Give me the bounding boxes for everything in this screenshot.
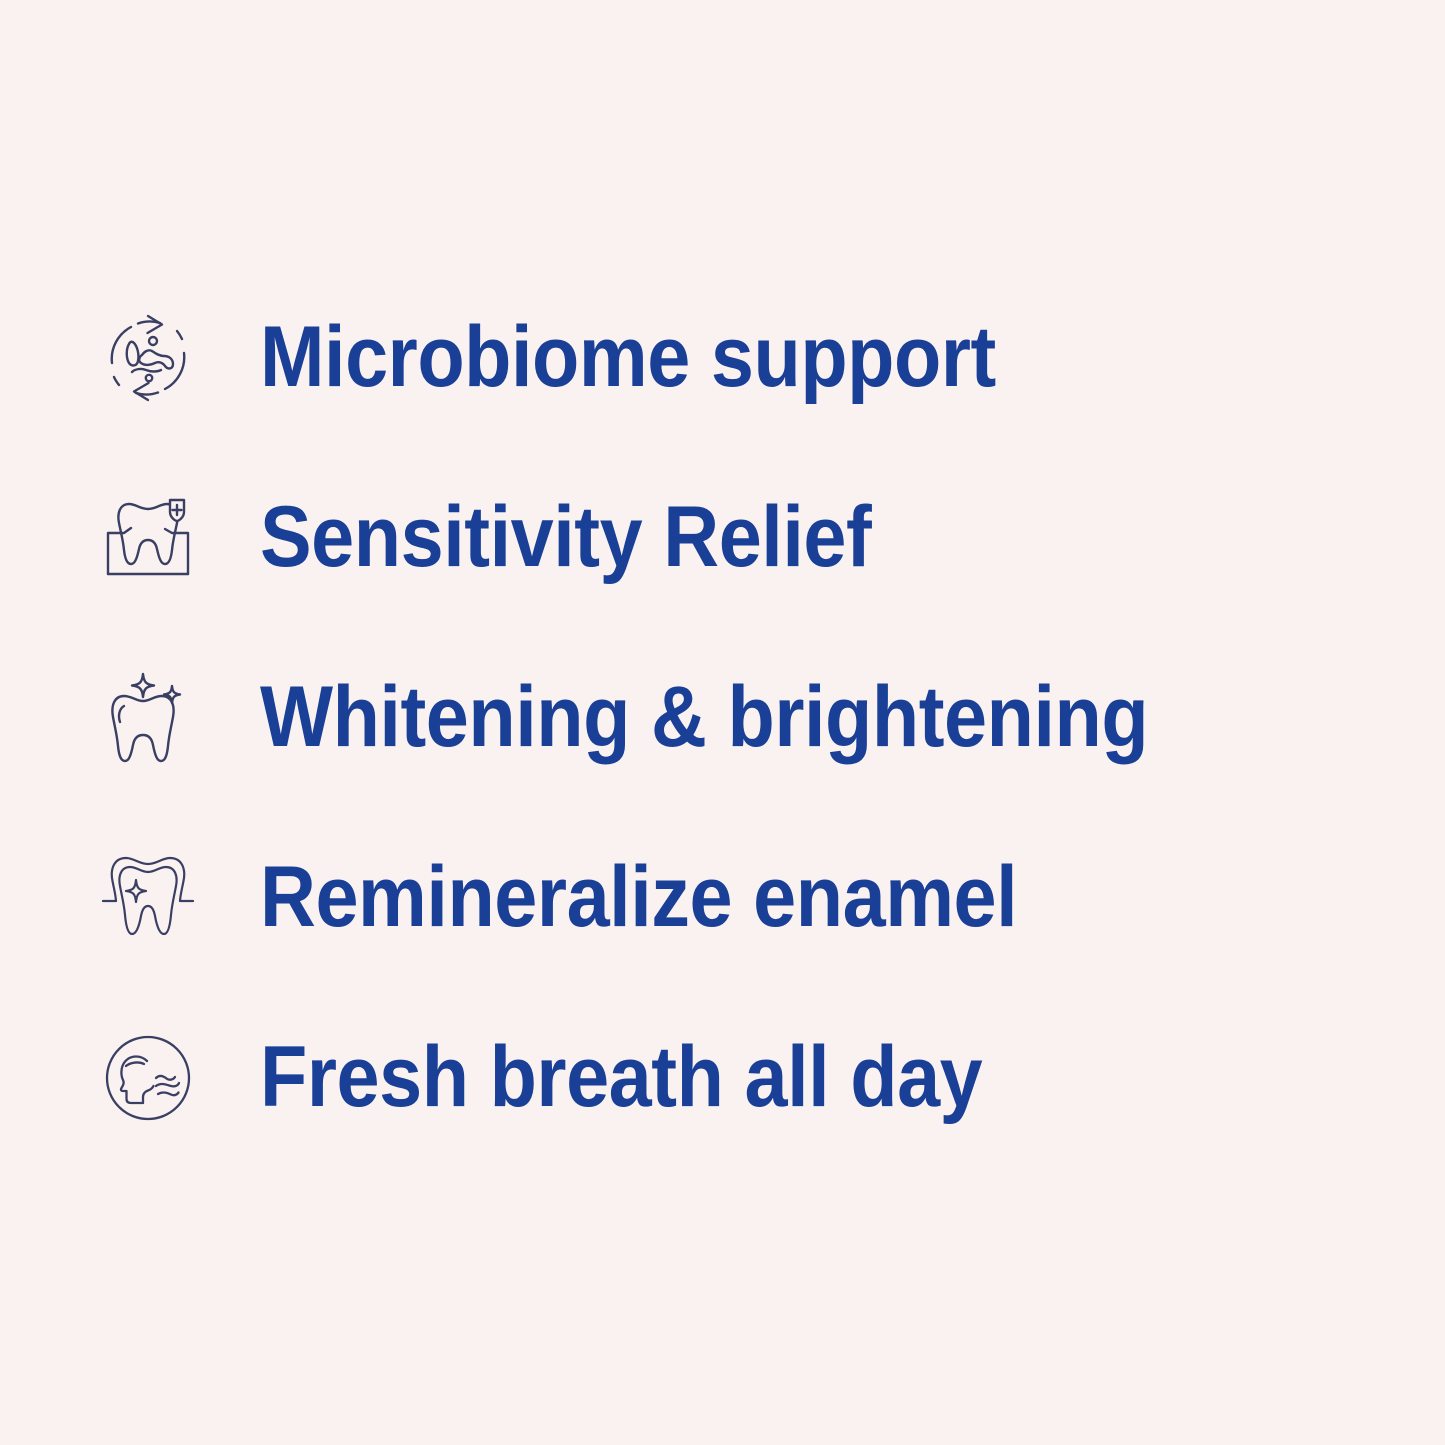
head-fresh-breath-icon — [96, 1026, 200, 1130]
list-item: Remineralize enamel — [96, 808, 1376, 988]
benefit-label: Microbiome support — [260, 314, 996, 402]
microbiome-cycle-icon — [96, 306, 200, 410]
benefits-panel: Microbiome support Sensitivity Relief — [0, 0, 1445, 1445]
benefit-label: Remineralize enamel — [260, 854, 1017, 942]
list-item: Sensitivity Relief — [96, 448, 1376, 628]
tooth-enamel-shell-icon — [96, 846, 200, 950]
benefit-label: Whitening & brightening — [260, 674, 1148, 762]
benefit-list: Microbiome support Sensitivity Relief — [96, 268, 1376, 1168]
benefit-label: Fresh breath all day — [260, 1034, 982, 1122]
list-item: Microbiome support — [96, 268, 1376, 448]
list-item: Fresh breath all day — [96, 988, 1376, 1168]
list-item: Whitening & brightening — [96, 628, 1376, 808]
benefit-label: Sensitivity Relief — [260, 494, 871, 582]
tooth-gum-shield-icon — [96, 486, 200, 590]
tooth-sparkles-icon — [96, 666, 200, 770]
